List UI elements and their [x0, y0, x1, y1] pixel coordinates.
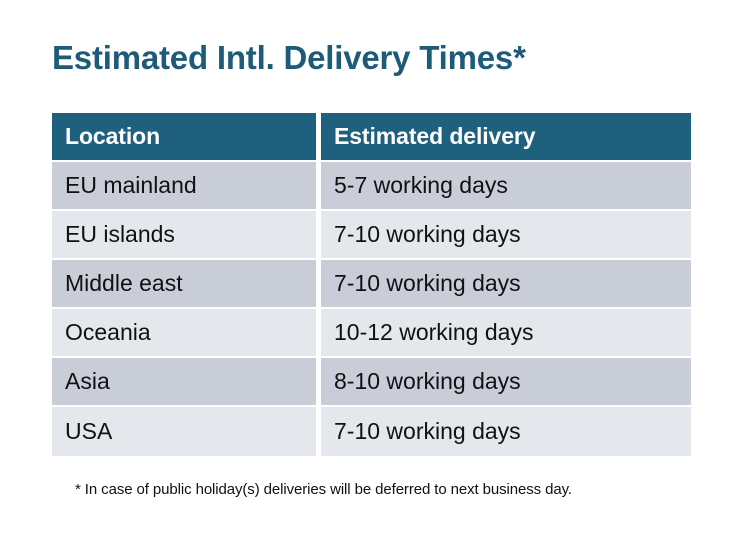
table-row: EU mainland 5-7 working days: [52, 162, 691, 211]
cell-location: USA: [52, 407, 316, 456]
cell-estimated-delivery: 5-7 working days: [321, 162, 691, 211]
delivery-times-page: Estimated Intl. Delivery Times* Location…: [0, 0, 745, 536]
cell-estimated-delivery: 7-10 working days: [321, 407, 691, 456]
cell-estimated-delivery: 8-10 working days: [321, 358, 691, 407]
table-row: USA 7-10 working days: [52, 407, 691, 456]
column-header-location: Location: [52, 113, 316, 162]
cell-location: EU mainland: [52, 162, 316, 211]
table-header-row: Location Estimated delivery: [52, 113, 691, 162]
table-row: Middle east 7-10 working days: [52, 260, 691, 309]
table-row: EU islands 7-10 working days: [52, 211, 691, 260]
table-row: Asia 8-10 working days: [52, 358, 691, 407]
cell-estimated-delivery: 7-10 working days: [321, 260, 691, 309]
footnote: * In case of public holiday(s) deliverie…: [75, 481, 572, 498]
cell-estimated-delivery: 10-12 working days: [321, 309, 691, 358]
table-header: Location Estimated delivery: [52, 113, 691, 162]
cell-location: EU islands: [52, 211, 316, 260]
table-row: Oceania 10-12 working days: [52, 309, 691, 358]
cell-location: Middle east: [52, 260, 316, 309]
cell-estimated-delivery: 7-10 working days: [321, 211, 691, 260]
table-body: EU mainland 5-7 working days EU islands …: [52, 162, 691, 456]
cell-location: Asia: [52, 358, 316, 407]
page-title: Estimated Intl. Delivery Times*: [52, 38, 526, 78]
column-header-estimated-delivery: Estimated delivery: [321, 113, 691, 162]
delivery-times-table: Location Estimated delivery EU mainland …: [52, 113, 691, 456]
cell-location: Oceania: [52, 309, 316, 358]
